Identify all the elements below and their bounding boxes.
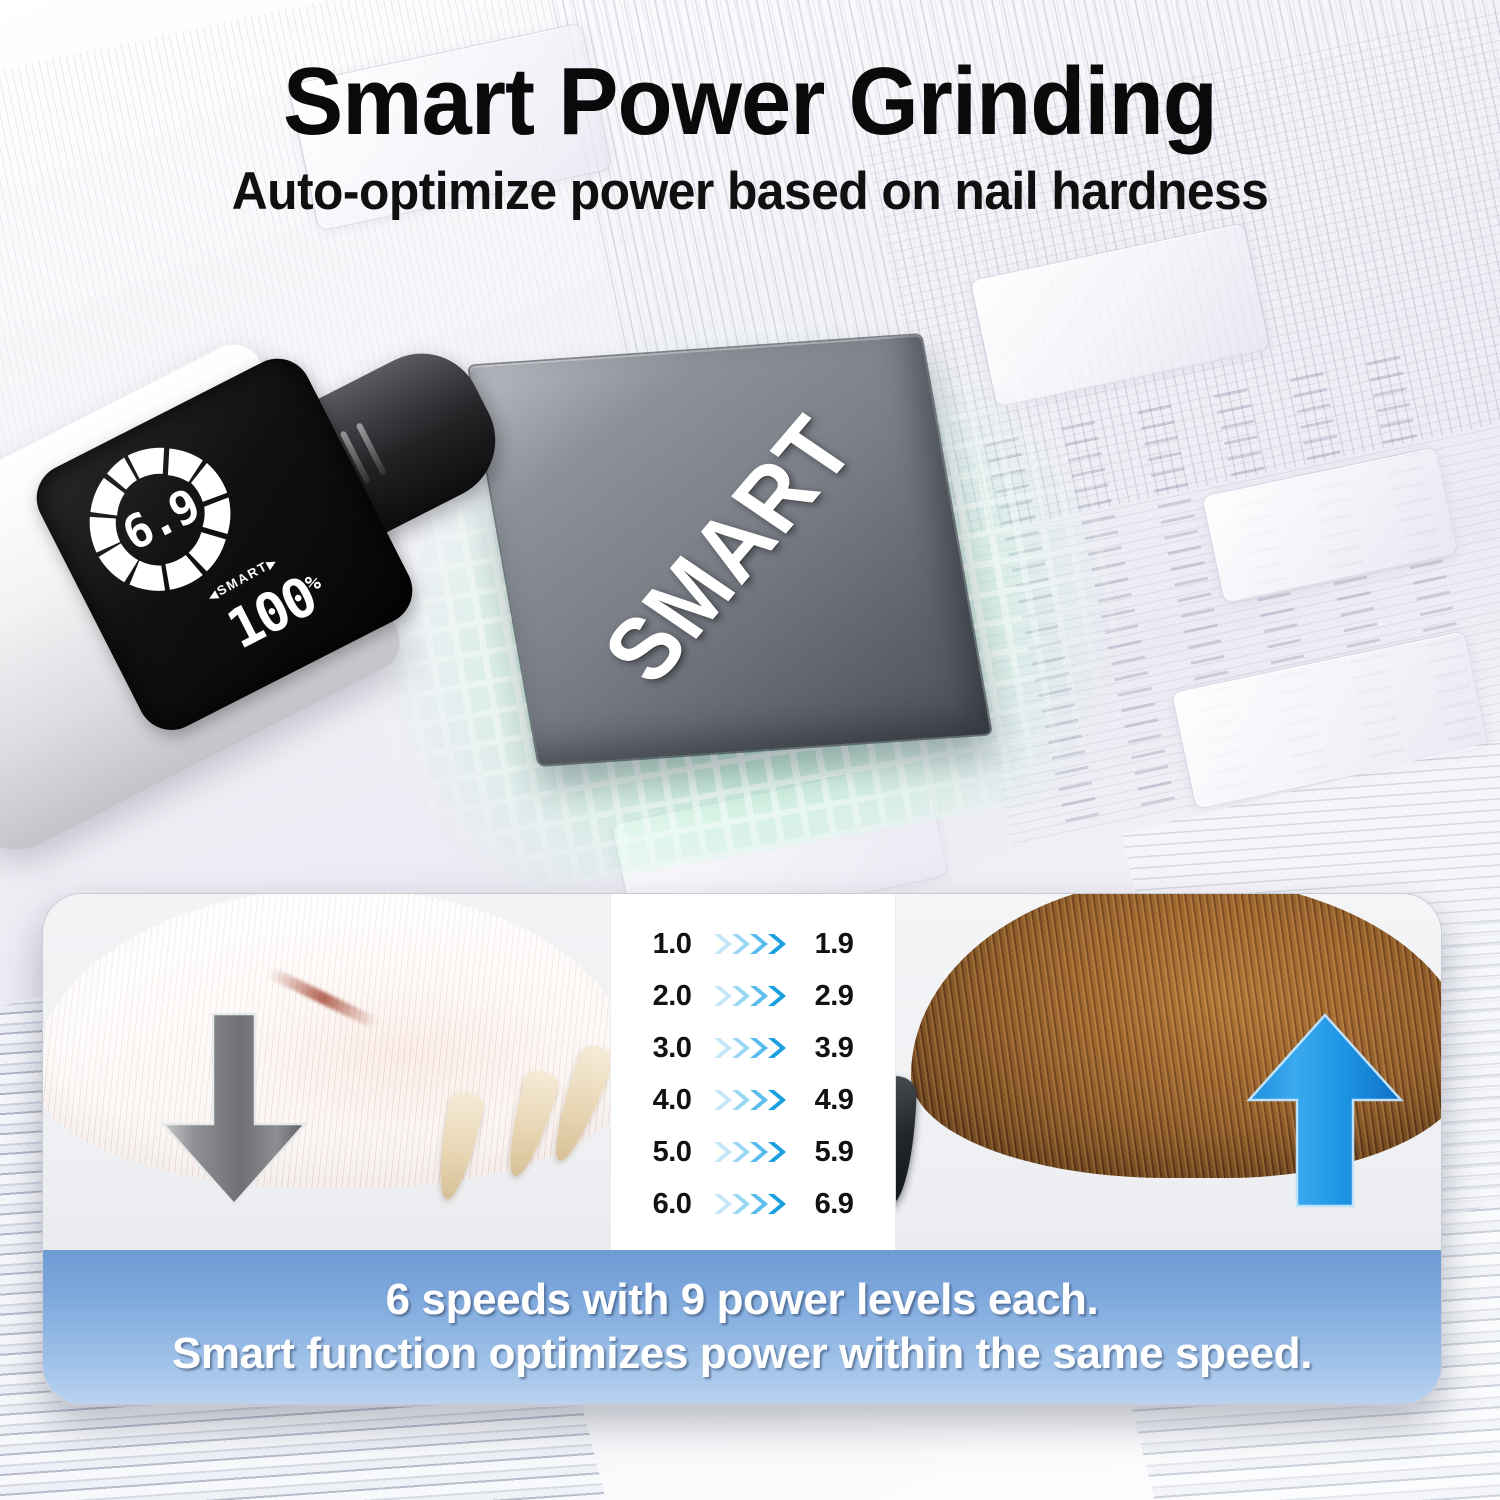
chevron-right-icon — [712, 1087, 794, 1113]
page-title: Smart Power Grinding — [45, 52, 1455, 153]
chevron-right-icon — [712, 1035, 794, 1061]
speed-from: 5.0 — [643, 1136, 701, 1169]
speed-to: 1.9 — [805, 928, 863, 961]
chevron-right-icon — [712, 931, 794, 957]
speed-from: 4.0 — [643, 1084, 701, 1117]
banner-line-2: Smart function optimizes power within th… — [172, 1329, 1312, 1379]
banner-line-1: 6 speeds with 9 power levels each. — [386, 1275, 1099, 1325]
chevron-right-icon — [712, 1191, 794, 1217]
speed-from: 1.0 — [643, 928, 701, 961]
table-row: 6.0 6.9 — [611, 1178, 895, 1230]
chevron-right-icon — [712, 1139, 794, 1165]
table-row: 4.0 4.9 — [611, 1074, 895, 1126]
table-row: 3.0 3.9 — [611, 1022, 895, 1074]
chevron-right-icon — [712, 983, 794, 1009]
summary-banner: 6 speeds with 9 power levels each. Smart… — [43, 1250, 1441, 1404]
arrow-up-icon — [1241, 1012, 1409, 1208]
speed-from: 6.0 — [643, 1188, 701, 1221]
speed-to: 6.9 — [805, 1188, 863, 1221]
speed-to: 3.9 — [805, 1032, 863, 1065]
comparison-card: 1.0 1.9 2.0 — [42, 893, 1442, 1405]
header: Smart Power Grinding Auto-optimize power… — [0, 52, 1500, 222]
table-row: 2.0 2.9 — [611, 970, 895, 1022]
speed-from: 3.0 — [643, 1032, 701, 1065]
page-subtitle: Auto-optimize power based on nail hardne… — [45, 161, 1455, 222]
speed-from: 2.0 — [643, 980, 701, 1013]
table-row: 1.0 1.9 — [611, 918, 895, 970]
table-row: 5.0 5.9 — [611, 1126, 895, 1178]
speed-to: 2.9 — [805, 980, 863, 1013]
arrow-down-icon — [155, 1012, 313, 1208]
card-image-row: 1.0 1.9 2.0 — [43, 894, 1441, 1254]
speed-to: 5.9 — [805, 1136, 863, 1169]
speed-range-table: 1.0 1.9 2.0 — [611, 894, 895, 1254]
soft-nail-panel — [43, 894, 613, 1254]
speed-to: 4.9 — [805, 1084, 863, 1117]
